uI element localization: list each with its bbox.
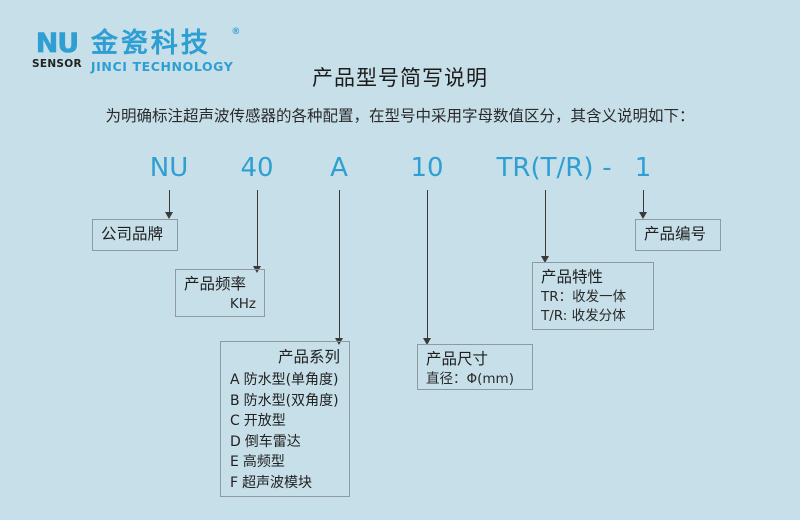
registered-trademark-icon: ® bbox=[231, 28, 243, 37]
connector-line-size bbox=[427, 190, 428, 340]
code-part-separator: - bbox=[602, 155, 611, 181]
series-text-b: 防水型(双角度) bbox=[244, 393, 339, 409]
connector-line-series bbox=[339, 190, 340, 340]
series-letter-b: B bbox=[230, 393, 240, 409]
box-product-size-title: 产品尺寸 bbox=[426, 349, 524, 370]
code-part-series: A bbox=[330, 155, 348, 181]
connector-line-frequency bbox=[257, 190, 258, 268]
series-letter-a: A bbox=[230, 372, 240, 388]
box-product-feature-line-tr-split: T/R: 收发分体 bbox=[541, 307, 645, 326]
connector-arrow-serial bbox=[639, 212, 647, 219]
box-product-feature-line-tr: TR：收发一体 bbox=[541, 288, 645, 307]
box-product-series: 产品系列 A防水型(单角度) B防水型(双角度) C开放型 D倒车雷达 E高频型… bbox=[220, 341, 350, 497]
code-part-size: 10 bbox=[410, 155, 443, 181]
series-text-a: 防水型(单角度) bbox=[244, 372, 339, 388]
page-subtitle: 为明确标注超声波传感器的各种配置，在型号中采用字母数值区分，其含义说明如下： bbox=[0, 104, 800, 126]
series-item-c: C开放型 bbox=[230, 411, 340, 432]
connector-line-brand bbox=[169, 190, 170, 214]
series-letter-e: E bbox=[230, 454, 239, 470]
series-item-e: E高频型 bbox=[230, 452, 340, 473]
logo-brand-cn-text: 金瓷科技 bbox=[91, 28, 211, 59]
box-product-feature: 产品特性 TR：收发一体 T/R: 收发分体 bbox=[532, 262, 654, 330]
box-product-series-title: 产品系列 bbox=[230, 347, 340, 368]
box-product-frequency-unit: KHz bbox=[184, 295, 256, 314]
model-code-explanation-page: NU SENSOR 金瓷科技® JINCI TECHNOLOGY 产品型号简写说… bbox=[0, 0, 800, 520]
series-letter-c: C bbox=[230, 413, 240, 429]
series-item-f: F超声波模块 bbox=[230, 473, 340, 494]
series-text-c: 开放型 bbox=[244, 413, 286, 429]
box-product-size: 产品尺寸 直径：Φ(mm) bbox=[417, 344, 533, 390]
box-product-frequency-title: 产品频率 bbox=[184, 274, 256, 295]
series-item-a: A防水型(单角度) bbox=[230, 370, 340, 391]
box-company-brand-title: 公司品牌 bbox=[101, 224, 169, 245]
series-text-d: 倒车雷达 bbox=[245, 434, 301, 450]
series-letter-f: F bbox=[230, 475, 238, 491]
connector-line-feature bbox=[545, 190, 546, 258]
series-item-b: B防水型(双角度) bbox=[230, 391, 340, 412]
box-product-serial-title: 产品编号 bbox=[644, 224, 712, 245]
code-part-frequency: 40 bbox=[240, 155, 273, 181]
code-part-serial: 1 bbox=[635, 155, 652, 181]
model-code-row: NU 40 A 10 TR(T/R) - 1 bbox=[0, 155, 800, 191]
series-letter-d: D bbox=[230, 434, 241, 450]
series-item-d: D倒车雷达 bbox=[230, 432, 340, 453]
connector-line-serial bbox=[643, 190, 644, 214]
series-text-f: 超声波模块 bbox=[242, 475, 312, 491]
box-product-frequency: 产品频率 KHz bbox=[175, 269, 265, 317]
series-text-e: 高频型 bbox=[243, 454, 285, 470]
page-title: 产品型号简写说明 bbox=[0, 62, 800, 92]
box-product-size-detail: 直径：Φ(mm) bbox=[426, 370, 524, 389]
logo-brand-cn: 金瓷科技® bbox=[91, 30, 234, 57]
connector-arrow-brand bbox=[165, 212, 173, 219]
logo-nu-text: NU bbox=[36, 30, 79, 57]
box-product-serial: 产品编号 bbox=[635, 219, 721, 251]
code-part-brand: NU bbox=[150, 155, 188, 181]
box-product-feature-title: 产品特性 bbox=[541, 267, 645, 288]
box-company-brand: 公司品牌 bbox=[92, 219, 178, 251]
code-part-feature: TR(T/R) bbox=[497, 155, 594, 181]
